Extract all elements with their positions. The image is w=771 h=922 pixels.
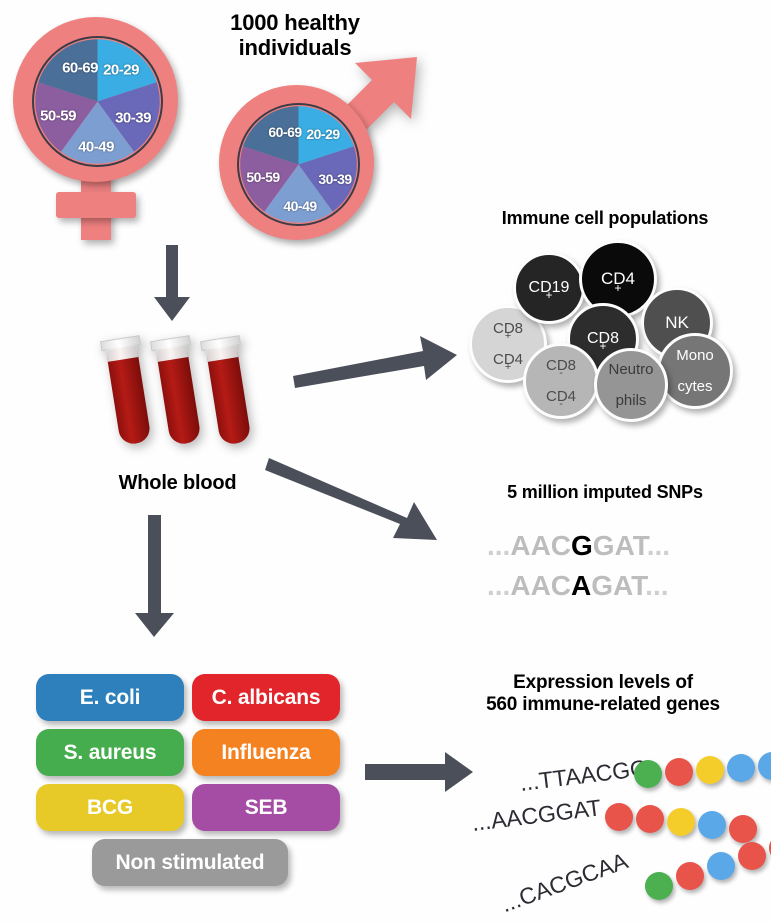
expression-strand-1-bead-4	[727, 754, 755, 782]
male-pie-label-20-29: 20-29	[306, 126, 339, 142]
stimulation-e-coli[interactable]: E. coli	[36, 674, 184, 721]
snp-row-1-right: GAT	[593, 530, 647, 561]
expression-section: Expression levels of 560 immune-related …	[448, 672, 771, 920]
female-pie-label-20-29: 20-29	[103, 62, 139, 79]
cell-cd4-label: CD4+	[597, 270, 639, 288]
snp-row-2-right: GAT	[591, 570, 645, 601]
expression-strand-2-sequence: ...AACGGAT	[470, 794, 602, 837]
immune-cells-section: Immune cell populations CD8+ CD4+ CD19+ …	[455, 200, 771, 425]
expression-strand-1-bead-3	[696, 756, 724, 784]
male-pie-label-40-49: 40-49	[283, 198, 316, 214]
stimulation-bcg[interactable]: BCG	[36, 784, 184, 831]
expression-heading-line1: Expression levels of	[448, 672, 758, 694]
stimulation-c-albicans[interactable]: C. albicans	[192, 674, 340, 721]
expression-strand-3-sequence: ...CACGCAA	[497, 847, 631, 918]
male-pie-label-60-69: 60-69	[268, 124, 301, 140]
blood-tube-2	[151, 336, 206, 447]
arrow-blood-to-immune-cells	[290, 330, 460, 390]
snp-row-2-suffix: ...	[645, 570, 668, 601]
expression-strand-3-bead-3	[707, 852, 735, 880]
expression-strand-1-bead-1	[634, 760, 662, 788]
cell-neutrophils-label: Neutrophils	[604, 362, 657, 409]
female-pie-label-40-49: 40-49	[78, 139, 114, 156]
arrow-cohort-to-blood	[148, 245, 198, 325]
snp-sequence-row-2: ...AACAGAT...	[487, 570, 669, 602]
expression-strand-1-sequence: ...TTAACGG	[518, 754, 649, 796]
cell-cd19-label: CD19+	[525, 280, 574, 297]
blood-tube-3	[201, 336, 256, 447]
arrow-blood-to-stimulations	[130, 515, 180, 640]
female-symbol: 20-29 30-39 40-49 50-59 60-69	[8, 12, 188, 242]
female-pie-label-30-39: 30-39	[115, 110, 151, 127]
snp-row-2-variant: A	[571, 570, 591, 601]
arrow-down-shape	[154, 245, 190, 321]
stimulation-influenza[interactable]: Influenza	[192, 729, 340, 776]
snp-sequence-row-1: ...AACGGAT...	[487, 530, 670, 562]
cohort-heading-line1: 1000 healthy	[180, 10, 410, 35]
blood-tube-1	[101, 336, 156, 447]
snp-row-1-prefix: ...	[487, 530, 510, 561]
expression-strand-1-bead-2	[665, 758, 693, 786]
stimulation-non-stimulated[interactable]: Non stimulated	[92, 839, 288, 886]
arrow-down-shape	[135, 515, 174, 637]
expression-strand-3-bead-2	[676, 862, 704, 890]
cell-cd8-label: CD8+	[583, 331, 623, 348]
arrow-upright-shape	[293, 336, 457, 388]
expression-heading: Expression levels of 560 immune-related …	[448, 672, 758, 716]
snps-heading: 5 million imputed SNPs	[455, 482, 755, 503]
expression-strand-2-bead-1	[605, 803, 633, 831]
expression-strand-2-bead-2	[636, 805, 664, 833]
female-pie-label-60-69: 60-69	[62, 60, 98, 77]
snp-row-1-variant: G	[571, 530, 593, 561]
cell-neutrophils: Neutrophils	[594, 348, 668, 422]
blood-tubes-icon	[95, 330, 295, 470]
snp-row-1-left: AAC	[510, 530, 571, 561]
cell-cd8-cd4-double-negative-label: CD8- CD4-	[542, 358, 580, 405]
snp-row-1-suffix: ...	[647, 530, 670, 561]
expression-strand-3-bead-4	[738, 842, 766, 870]
cell-cd8-cd4-double-positive-label: CD8+ CD4+	[489, 321, 527, 368]
cell-cd8-cd4-double-negative: CD8- CD4-	[523, 343, 599, 419]
female-symbol-stem-cross	[56, 192, 136, 218]
snp-row-2-prefix: ...	[487, 570, 510, 601]
stimulations-section: E. coli C. albicans S. aureus Influenza …	[30, 672, 370, 902]
male-symbol: 20-29 30-39 40-49 50-59 60-69	[205, 35, 430, 245]
expression-strand-2-bead-3	[667, 808, 695, 836]
female-pie-label-50-59: 50-59	[40, 108, 76, 125]
snp-row-2-left: AAC	[510, 570, 571, 601]
cell-monocytes-label: Monocytes	[672, 348, 718, 395]
stimulation-s-aureus[interactable]: S. aureus	[36, 729, 184, 776]
whole-blood-label: Whole blood	[95, 472, 260, 495]
cell-monocytes: Monocytes	[657, 333, 733, 409]
stimulation-seb[interactable]: SEB	[192, 784, 340, 831]
cell-cd19: CD19+	[513, 252, 585, 324]
male-pie-label-30-39: 30-39	[318, 171, 351, 187]
snps-section: 5 million imputed SNPs ...AACGGAT... ...…	[455, 482, 771, 617]
cell-nk-label: NK	[663, 314, 691, 332]
immune-cells-heading: Immune cell populations	[455, 208, 755, 229]
male-pie-label-50-59: 50-59	[246, 169, 279, 185]
expression-heading-line2: 560 immune-related genes	[448, 694, 758, 716]
cohort-section: 1000 healthy individuals 20-29 30-39	[0, 0, 460, 260]
whole-blood-section: Whole blood	[95, 330, 295, 505]
expression-strand-3: ...CACGCAA	[500, 834, 771, 914]
expression-strand-1-bead-5	[758, 752, 771, 780]
expression-strand-3-bead-1	[645, 872, 673, 900]
